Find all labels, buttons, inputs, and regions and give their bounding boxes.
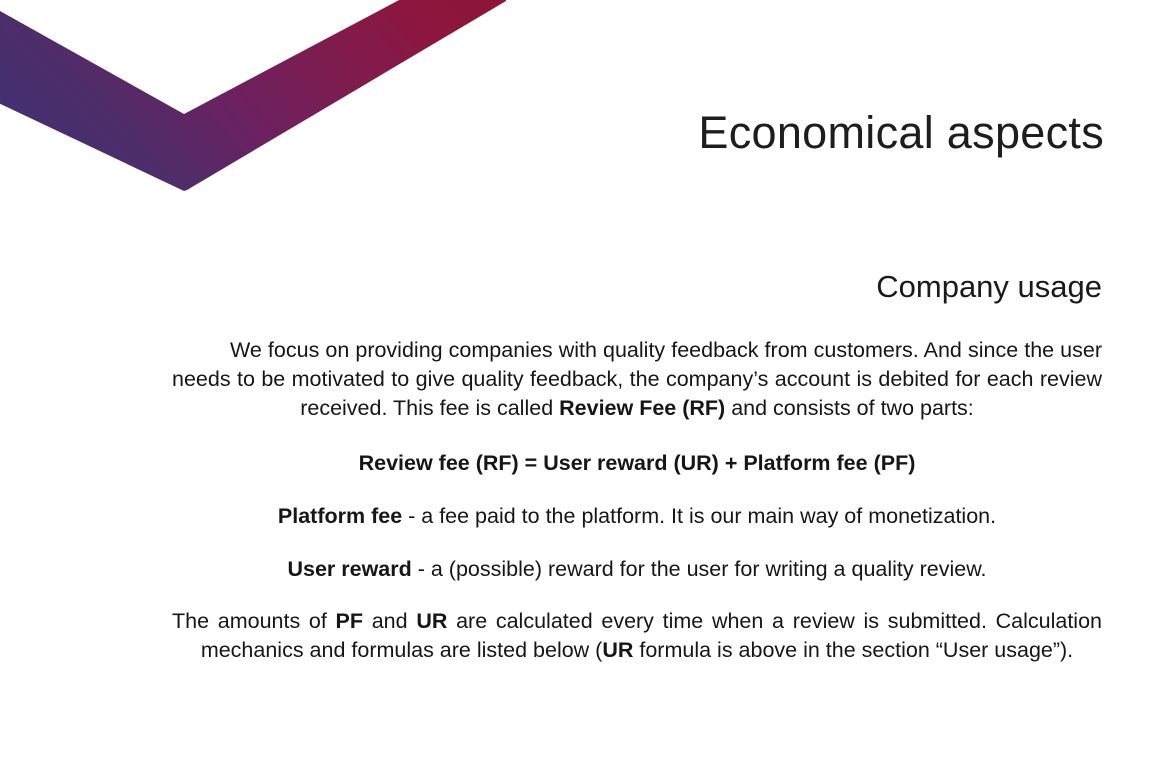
closing-text-4: formula is above in the section “User us… — [633, 638, 1073, 662]
spacer — [172, 583, 1102, 607]
spacer — [172, 423, 1102, 449]
closing-text-1: The amounts of — [172, 609, 336, 633]
section-subtitle: Company usage — [876, 269, 1102, 305]
ur-abbrev: UR — [416, 609, 447, 633]
intro-paragraph: We focus on providing companies with qua… — [172, 336, 1102, 423]
closing-paragraph: The amounts of PF and UR are calculated … — [172, 607, 1102, 665]
slide: Economical aspects Company usage We focu… — [0, 0, 1159, 775]
review-fee-term: Review Fee (RF) — [559, 396, 725, 420]
spacer — [172, 478, 1102, 502]
chevron-graphic — [0, 0, 518, 205]
platform-fee-text: - a fee paid to the platform. It is our … — [402, 504, 996, 528]
closing-text-2: and — [363, 609, 416, 633]
user-reward-definition: User reward - a (possible) reward for th… — [172, 555, 1102, 584]
user-reward-text: - a (possible) reward for the user for w… — [412, 557, 987, 581]
platform-fee-definition: Platform fee - a fee paid to the platfor… — [172, 502, 1102, 531]
body-content: We focus on providing companies with qua… — [172, 336, 1102, 665]
intro-text-after: and consists of two parts: — [725, 396, 974, 420]
user-reward-term: User reward — [287, 557, 411, 581]
page-title: Economical aspects — [698, 108, 1104, 158]
review-fee-formula: Review fee (RF) = User reward (UR) + Pla… — [172, 449, 1102, 478]
ur-abbrev-second: UR — [602, 638, 633, 662]
platform-fee-term: Platform fee — [278, 504, 402, 528]
pf-abbrev: PF — [336, 609, 363, 633]
spacer — [172, 531, 1102, 555]
